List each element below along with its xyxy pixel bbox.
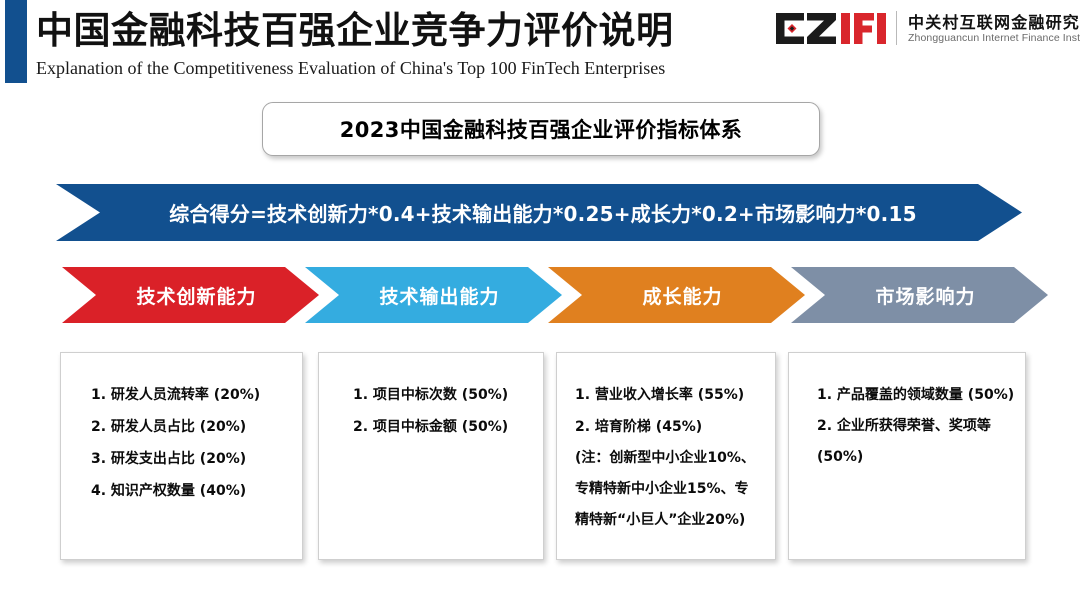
- dimension-chevron-row: 技术创新能力 技术输出能力 成长能力 市场影响力: [0, 267, 1080, 323]
- indicator-system-title-box: 2023中国金融科技百强企业评价指标体系: [262, 102, 820, 156]
- card-line: 2. 研发人员占比 (20%): [79, 411, 288, 443]
- card-growth-capability: 1. 营业收入增长率 (55%) 2. 培育阶梯 (45%) (注：创新型中小企…: [556, 352, 776, 560]
- logo-name-english: Zhongguancun Internet Finance Institute: [908, 32, 1080, 44]
- page-title-english: Explanation of the Competitiveness Evalu…: [36, 57, 665, 79]
- composite-score-formula-text: 综合得分=技术创新力*0.4+技术输出能力*0.25+成长力*0.2+市场影响力…: [161, 198, 916, 227]
- card-line: 1. 产品覆盖的领域数量 (50%): [807, 379, 1011, 411]
- card-line: 2. 企业所获得荣誉、奖项等 (50%): [807, 411, 1011, 473]
- header-accent-bar: [5, 0, 27, 83]
- card-line: 1. 营业收入增长率 (55%): [575, 379, 761, 411]
- chevron-label: 技术创新能力: [124, 282, 256, 309]
- chevron-label: 市场影响力: [863, 282, 975, 309]
- czifi-logomark-icon: [774, 11, 886, 46]
- card-line: 2. 培育阶梯 (45%): [575, 411, 761, 443]
- card-line: 1. 研发人员流转率 (20%): [79, 379, 288, 411]
- indicator-card-row: 1. 研发人员流转率 (20%) 2. 研发人员占比 (20%) 3. 研发支出…: [0, 352, 1080, 562]
- card-technology-innovation: 1. 研发人员流转率 (20%) 2. 研发人员占比 (20%) 3. 研发支出…: [60, 352, 303, 560]
- chevron-label: 成长能力: [630, 282, 722, 309]
- chevron-growth-capability: 成长能力: [548, 267, 805, 323]
- indicator-system-title-label: 2023中国金融科技百强企业评价指标体系: [340, 114, 742, 144]
- chevron-technology-output: 技术输出能力: [305, 267, 562, 323]
- chevron-label: 技术输出能力: [367, 282, 499, 309]
- card-market-influence: 1. 产品覆盖的领域数量 (50%) 2. 企业所获得荣誉、奖项等 (50%): [788, 352, 1026, 560]
- card-line: 3. 研发支出占比 (20%): [79, 443, 288, 475]
- card-technology-output: 1. 项目中标次数 (50%) 2. 项目中标金额 (50%): [318, 352, 544, 560]
- chevron-technology-innovation: 技术创新能力: [62, 267, 319, 323]
- card-line: 1. 项目中标次数 (50%): [337, 379, 529, 411]
- institute-logo: 中关村互联网金融研究院 Zhongguancun Internet Financ…: [774, 9, 1070, 51]
- card-line: 4. 知识产权数量 (40%): [79, 475, 288, 507]
- logo-name-chinese: 中关村互联网金融研究院: [908, 9, 1080, 33]
- card-note-line: (注：创新型中小企业10%、专精特新中小企业15%、专精特新“小巨人”企业20%…: [575, 443, 761, 536]
- composite-score-formula-banner: 综合得分=技术创新力*0.4+技术输出能力*0.25+成长力*0.2+市场影响力…: [56, 184, 1022, 241]
- page-header: 中国金融科技百强企业竞争力评价说明 Explanation of the Com…: [0, 0, 1080, 88]
- logo-divider: [896, 11, 897, 45]
- chevron-market-influence: 市场影响力: [791, 267, 1048, 323]
- page-title-chinese: 中国金融科技百强企业竞争力评价说明: [36, 8, 674, 53]
- card-line: 2. 项目中标金额 (50%): [337, 411, 529, 443]
